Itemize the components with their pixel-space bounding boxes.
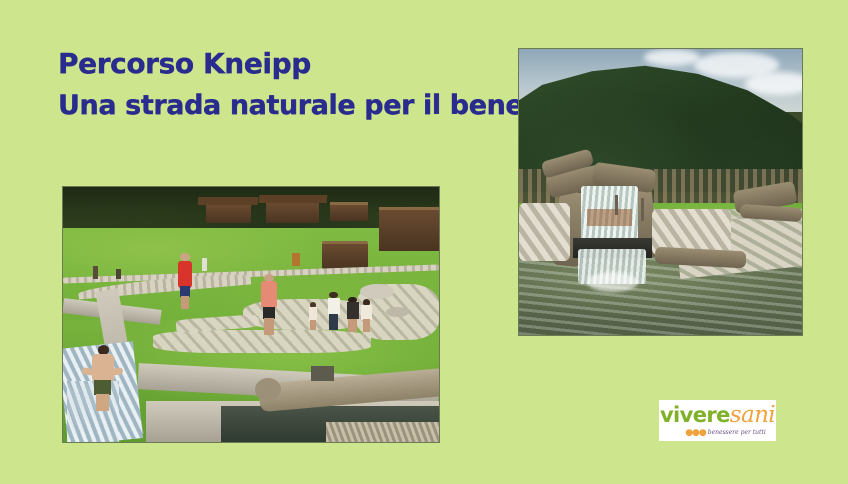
chalet-5-hut bbox=[322, 241, 367, 270]
gravel-strip bbox=[326, 422, 439, 442]
person-woman-pink-top bbox=[259, 274, 280, 335]
person-boy-red-shirt bbox=[176, 253, 195, 309]
person-legs bbox=[310, 320, 316, 330]
chalet-1 bbox=[206, 202, 251, 223]
stone-pile-left bbox=[519, 203, 570, 260]
person-adult-dark-top bbox=[345, 297, 360, 333]
chalet-2-roof bbox=[258, 195, 326, 203]
photo-left-scene bbox=[63, 187, 439, 442]
photo-right-scene bbox=[519, 49, 802, 335]
chalet-2 bbox=[266, 200, 319, 223]
person-lower-legs bbox=[264, 318, 274, 335]
title-block: Percorso Kneipp Una strada naturale per … bbox=[58, 50, 488, 119]
page-title-line-2: Una strada naturale per il benessere bbox=[58, 92, 488, 119]
boulder-2 bbox=[386, 307, 409, 317]
person-shorts bbox=[94, 380, 112, 396]
distant-figure-1 bbox=[93, 266, 98, 279]
person-legs bbox=[363, 319, 370, 332]
cascade-foam-splash bbox=[587, 272, 638, 292]
person-adult-white-top bbox=[326, 292, 341, 330]
distant-figure-4 bbox=[292, 253, 300, 266]
person-torso bbox=[261, 281, 277, 308]
person-arm-right bbox=[111, 367, 123, 375]
person-torso bbox=[361, 305, 372, 320]
log-end-cap bbox=[255, 378, 281, 401]
logo-dots-icon: ●●● bbox=[685, 429, 706, 438]
person-torso-bare bbox=[92, 354, 114, 382]
page-title-line-1: Percorso Kneipp bbox=[58, 50, 488, 78]
person-child-light-top bbox=[360, 299, 373, 332]
chalet-1-roof bbox=[198, 197, 259, 205]
cloud-2 bbox=[745, 72, 803, 95]
chalet-4-large bbox=[379, 207, 439, 251]
chalet-3 bbox=[330, 202, 368, 220]
presentation-slide: Percorso Kneipp Una strada naturale per … bbox=[0, 0, 848, 484]
person-torso bbox=[347, 302, 359, 319]
person-head bbox=[180, 253, 190, 261]
person-lower-legs bbox=[96, 394, 109, 411]
person-boy-wading bbox=[86, 345, 120, 411]
photo-kneipp-water-flume bbox=[518, 48, 803, 336]
wooden-post-block bbox=[311, 366, 334, 381]
logo-text-sani: sani bbox=[730, 404, 775, 427]
person-child-small bbox=[307, 302, 318, 330]
logo-tagline-row: ●●● benessere per tutti bbox=[685, 429, 766, 438]
fence-post-1 bbox=[641, 198, 644, 221]
person-torso bbox=[178, 261, 192, 288]
person-torso bbox=[328, 298, 340, 316]
boulder-1 bbox=[360, 284, 394, 299]
person-legs bbox=[329, 314, 337, 329]
photo-kneipp-path-overview bbox=[62, 186, 440, 443]
logo-tagline: benessere per tutti bbox=[708, 430, 766, 436]
fence-post-2 bbox=[615, 195, 618, 215]
distant-figure-2 bbox=[116, 269, 121, 279]
person-legs bbox=[263, 307, 275, 319]
person-lower-legs bbox=[181, 296, 190, 309]
rust-stain-channel bbox=[587, 209, 632, 226]
distant-figure-3 bbox=[202, 258, 207, 271]
person-legs bbox=[348, 319, 356, 333]
person-torso bbox=[309, 307, 318, 320]
logo-text-vivere: vivere bbox=[660, 405, 730, 426]
logo-wordmark: vivere sani bbox=[660, 404, 775, 427]
viveresani-logo[interactable]: vivere sani ●●● benessere per tutti bbox=[659, 400, 776, 441]
